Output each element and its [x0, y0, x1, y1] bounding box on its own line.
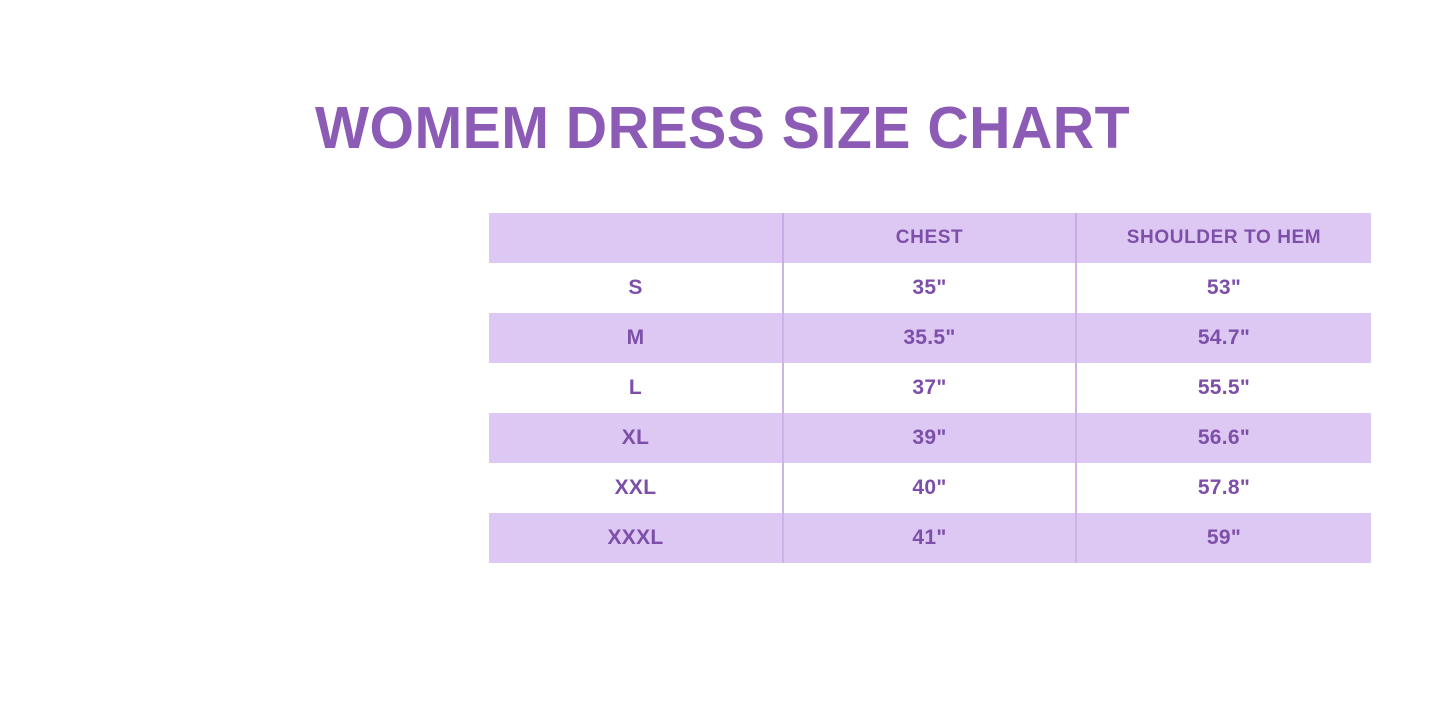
cell-size: L	[489, 363, 783, 413]
table-row: XL 39" 56.6"	[489, 413, 1371, 463]
cell-size: XL	[489, 413, 783, 463]
cell-chest: 40"	[783, 463, 1076, 513]
table-header-row: CHEST SHOULDER TO HEM	[489, 213, 1371, 263]
table-row: L 37" 55.5"	[489, 363, 1371, 413]
cell-chest: 41"	[783, 513, 1076, 563]
cell-size: XXXL	[489, 513, 783, 563]
cell-shoulder-to-hem: 57.8"	[1076, 463, 1371, 513]
table-row: XXXL 41" 59"	[489, 513, 1371, 563]
cell-shoulder-to-hem: 53"	[1076, 263, 1371, 313]
column-header-size	[489, 213, 783, 263]
column-header-chest: CHEST	[783, 213, 1076, 263]
size-chart-table-wrapper: CHEST SHOULDER TO HEM S 35" 53" M 35.5" …	[489, 213, 1371, 563]
cell-size: M	[489, 313, 783, 363]
cell-shoulder-to-hem: 56.6"	[1076, 413, 1371, 463]
cell-chest: 35"	[783, 263, 1076, 313]
page-title: WOMEM DRESS SIZE CHART	[22, 95, 1424, 161]
cell-chest: 37"	[783, 363, 1076, 413]
cell-shoulder-to-hem: 54.7"	[1076, 313, 1371, 363]
cell-size: XXL	[489, 463, 783, 513]
table-row: S 35" 53"	[489, 263, 1371, 313]
table-row: XXL 40" 57.8"	[489, 463, 1371, 513]
cell-chest: 39"	[783, 413, 1076, 463]
column-header-shoulder-to-hem: SHOULDER TO HEM	[1076, 213, 1371, 263]
table-row: M 35.5" 54.7"	[489, 313, 1371, 363]
size-chart-table: CHEST SHOULDER TO HEM S 35" 53" M 35.5" …	[489, 213, 1371, 563]
table-header: CHEST SHOULDER TO HEM	[489, 213, 1371, 263]
cell-shoulder-to-hem: 55.5"	[1076, 363, 1371, 413]
cell-shoulder-to-hem: 59"	[1076, 513, 1371, 563]
table-body: S 35" 53" M 35.5" 54.7" L 37" 55.5" XL 3…	[489, 263, 1371, 563]
cell-size: S	[489, 263, 783, 313]
size-chart-page: WOMEM DRESS SIZE CHART CHEST SHOULDER TO…	[0, 0, 1445, 723]
cell-chest: 35.5"	[783, 313, 1076, 363]
